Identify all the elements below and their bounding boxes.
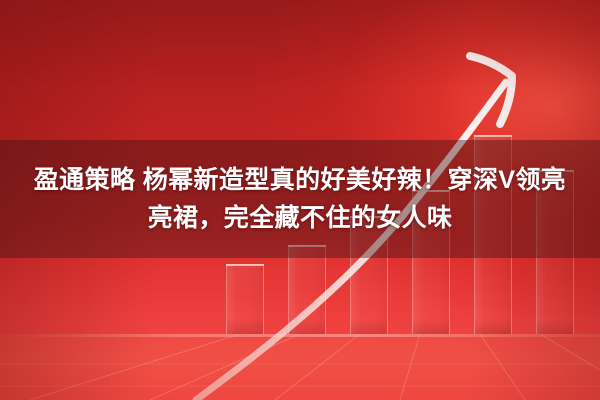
bar-shadow: [413, 319, 449, 335]
bar-cap: [474, 135, 512, 137]
bar-shadow: [227, 319, 263, 335]
floor-grid-lines: [0, 334, 600, 400]
chart-bar: [226, 264, 264, 335]
chart-bar: [288, 245, 326, 335]
bar-shadow: [289, 319, 325, 335]
bar-shadow: [537, 319, 573, 335]
caption-line-2: 亮裙，完全藏不住的女人味: [148, 201, 453, 235]
perspective-grid-floor: [0, 334, 600, 400]
bar-shadow: [351, 319, 387, 335]
bar-shadow: [475, 319, 511, 335]
bar-cap: [226, 264, 264, 266]
caption-line-1: 盈通策略 杨幂新造型真的好美好辣！穿深V领亮: [34, 163, 566, 197]
promo-banner: 盈通策略 杨幂新造型真的好美好辣！穿深V领亮 亮裙，完全藏不住的女人味: [0, 0, 600, 400]
caption-block: 盈通策略 杨幂新造型真的好美好辣！穿深V领亮 亮裙，完全藏不住的女人味: [0, 140, 600, 258]
